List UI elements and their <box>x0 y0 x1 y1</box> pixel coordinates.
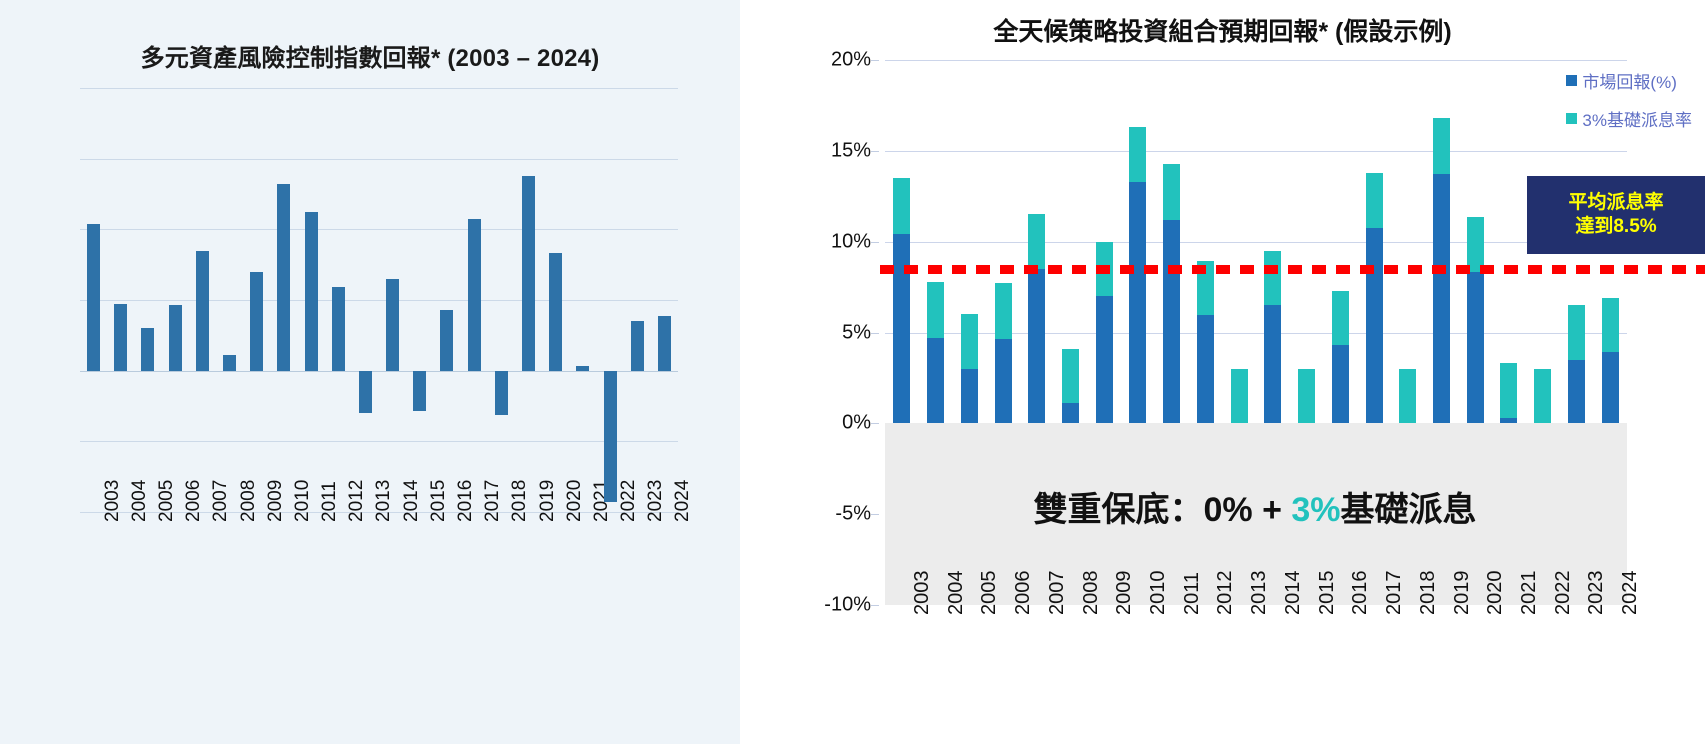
right-bar-segment-dividend-2010 <box>1129 127 1146 182</box>
right-bar-segment-dividend-2013 <box>1231 369 1248 424</box>
right-bar-segment-dividend-2016 <box>1332 291 1349 346</box>
right-bar-segment-dividend-2005 <box>961 314 978 369</box>
left-chart-title: 多元資產風險控制指數回報* (2003 – 2024) <box>0 38 740 73</box>
left-x-axis-label-2015: 2015 <box>428 480 450 522</box>
right-y-axis-label-15: 15% <box>801 139 871 162</box>
legend-label-market-return: 市場回報(%) <box>1582 68 1676 93</box>
right-bar-segment-dividend-2015 <box>1298 369 1315 424</box>
slide-canvas: 多元資產風險控制指數回報* (2003 – 2024) 20%15%10%5%0… <box>0 0 1705 744</box>
right-bar-segment-dividend-2004 <box>927 282 944 338</box>
right-bar-segment-market-2017 <box>1366 228 1383 423</box>
left-bar-2016[interactable] <box>440 310 453 371</box>
right-bar-segment-market-2003 <box>893 234 910 423</box>
left-bar-2021[interactable] <box>576 366 589 370</box>
left-x-axis-label-2022: 2022 <box>618 480 640 522</box>
right-bar-2024[interactable] <box>1602 60 1619 605</box>
left-bar-2010[interactable] <box>277 184 290 371</box>
floor-note-prefix: 雙重保底：0% + <box>1033 491 1291 529</box>
left-x-axis-label-2012: 2012 <box>346 480 368 522</box>
left-bar-2024[interactable] <box>658 316 671 371</box>
left-x-axis-label-2009: 2009 <box>265 480 287 522</box>
left-gridline-5 <box>80 300 678 301</box>
threshold-line-8-5 <box>880 265 1705 274</box>
right-bar-segment-dividend-2021 <box>1500 363 1517 418</box>
left-x-axis-label-2013: 2013 <box>373 480 395 522</box>
left-x-axis-label-2018: 2018 <box>509 480 531 522</box>
right-y-tick-20 <box>871 60 879 61</box>
right-y-axis-label--5: -5% <box>801 503 871 526</box>
left-bar-2007[interactable] <box>196 251 209 371</box>
left-bar-2014[interactable] <box>386 279 399 371</box>
left-plot-area: 20%15%10%5%0%-5%-10%20032004200520062007… <box>80 88 678 512</box>
right-bar-segment-market-2009 <box>1096 296 1113 423</box>
left-bar-2018[interactable] <box>495 371 508 416</box>
left-bar-2019[interactable] <box>522 176 535 370</box>
right-bar-segment-market-2004 <box>927 338 944 423</box>
left-bar-2005[interactable] <box>141 328 154 370</box>
right-y-axis-label-5: 5% <box>801 321 871 344</box>
left-bar-2006[interactable] <box>169 305 182 371</box>
callout-line-2: 達到8.5% <box>1575 215 1656 239</box>
right-bar-segment-dividend-2007 <box>1028 214 1045 269</box>
right-chart-legend: 市場回報(%) 3%基礎派息率 <box>1566 68 1692 131</box>
left-x-axis-label-2010: 2010 <box>292 480 314 522</box>
legend-swatch-base-dividend <box>1566 113 1577 124</box>
right-bar-segment-market-2006 <box>995 339 1012 423</box>
left-x-axis-label-2006: 2006 <box>183 480 205 522</box>
right-y-tick--5 <box>871 514 879 515</box>
right-y-axis-label-0: 0% <box>801 412 871 435</box>
left-x-axis-label-2003: 2003 <box>102 480 124 522</box>
right-y-tick-0 <box>871 423 879 424</box>
left-gridline--5 <box>80 441 678 442</box>
right-y-tick--10 <box>871 605 879 606</box>
left-x-axis-label-2005: 2005 <box>156 480 178 522</box>
right-bar-segment-dividend-2020 <box>1467 217 1484 272</box>
left-x-axis-label-2017: 2017 <box>482 480 504 522</box>
right-bar-segment-market-2010 <box>1129 182 1146 424</box>
left-x-axis-label-2024: 2024 <box>672 480 694 522</box>
right-bar-segment-market-2019 <box>1433 174 1450 424</box>
double-floor-note: 雙重保底：0% + 3%基礎派息 <box>915 482 1595 531</box>
left-x-axis-label-2004: 2004 <box>129 480 151 522</box>
right-bar-segment-market-2024 <box>1602 352 1619 423</box>
left-bar-2012[interactable] <box>332 287 345 371</box>
right-bar-segment-dividend-2008 <box>1062 349 1079 404</box>
legend-swatch-market-return <box>1566 75 1577 86</box>
right-bar-segment-dividend-2003 <box>893 178 910 234</box>
legend-item-market-return: 市場回報(%) <box>1566 68 1676 93</box>
right-bar-segment-dividend-2019 <box>1433 118 1450 173</box>
right-y-axis-label-20: 20% <box>801 49 871 72</box>
right-y-tick-15 <box>871 151 879 152</box>
callout-line-1: 平均派息率 <box>1568 191 1663 215</box>
left-x-axis-label-2008: 2008 <box>238 480 260 522</box>
left-bar-2013[interactable] <box>359 371 372 413</box>
right-y-axis-label--10: -10% <box>801 594 871 617</box>
right-y-tick-10 <box>871 242 879 243</box>
left-bar-2009[interactable] <box>250 272 263 371</box>
left-x-axis-label-2019: 2019 <box>537 480 559 522</box>
left-gridline-20 <box>80 88 678 89</box>
right-bar-segment-market-2014 <box>1264 305 1281 423</box>
right-bar-segment-market-2021 <box>1500 418 1517 423</box>
left-gridline-10 <box>80 229 678 230</box>
left-x-axis-label-2014: 2014 <box>401 480 423 522</box>
right-bar-segment-dividend-2024 <box>1602 298 1619 353</box>
right-bar-segment-market-2016 <box>1332 345 1349 423</box>
left-gridline-0 <box>80 371 678 372</box>
right-bar-segment-dividend-2018 <box>1399 369 1416 424</box>
left-bar-2003[interactable] <box>87 224 100 371</box>
left-x-axis-label-2007: 2007 <box>210 480 232 522</box>
right-bar-segment-dividend-2017 <box>1366 173 1383 228</box>
left-x-axis-label-2016: 2016 <box>455 480 477 522</box>
right-chart-panel: 全天候策略投資組合預期回報* (假設示例) 20%15%10%5%0%-5%-1… <box>740 0 1705 744</box>
left-x-axis-label-2020: 2020 <box>564 480 586 522</box>
left-chart-panel: 多元資產風險控制指數回報* (2003 – 2024) 20%15%10%5%0… <box>0 0 740 744</box>
right-bar-segment-market-2005 <box>961 369 978 424</box>
right-bar-segment-market-2023 <box>1568 360 1585 424</box>
right-bar-segment-market-2007 <box>1028 269 1045 423</box>
legend-item-base-dividend: 3%基礎派息率 <box>1566 106 1692 131</box>
legend-label-base-dividend: 3%基礎派息率 <box>1582 106 1692 131</box>
floor-note-suffix: 基礎派息 <box>1341 491 1477 529</box>
right-bar-segment-market-2008 <box>1062 403 1079 423</box>
left-gridline-15 <box>80 159 678 160</box>
right-bar-segment-dividend-2014 <box>1264 251 1281 306</box>
left-bar-2011[interactable] <box>305 212 318 370</box>
right-x-axis-label-2024: 2024 <box>1619 571 1642 616</box>
left-bar-2004[interactable] <box>114 304 127 370</box>
right-bar-segment-dividend-2011 <box>1163 164 1180 219</box>
left-x-axis-label-2023: 2023 <box>645 480 667 522</box>
floor-note-highlight: 3% <box>1291 491 1340 529</box>
right-bar-2003[interactable] <box>893 60 910 605</box>
right-bar-segment-dividend-2006 <box>995 283 1012 339</box>
right-bar-segment-market-2020 <box>1467 272 1484 424</box>
average-dividend-callout: 平均派息率 達到8.5% <box>1527 176 1705 254</box>
left-bar-2008[interactable] <box>223 355 236 371</box>
right-y-axis-label-10: 10% <box>801 230 871 253</box>
left-bar-2015[interactable] <box>413 371 426 411</box>
right-chart-title: 全天候策略投資組合預期回報* (假設示例) <box>740 12 1705 48</box>
right-bar-segment-market-2012 <box>1197 315 1214 423</box>
right-bar-segment-market-2011 <box>1163 220 1180 423</box>
right-bar-segment-dividend-2023 <box>1568 305 1585 360</box>
left-bar-2020[interactable] <box>549 253 562 371</box>
left-bar-2017[interactable] <box>468 219 481 371</box>
left-x-axis-label-2011: 2011 <box>319 481 341 522</box>
right-bar-segment-dividend-2022 <box>1534 369 1551 424</box>
left-bar-2023[interactable] <box>631 321 644 370</box>
right-y-tick-5 <box>871 333 879 334</box>
left-bar-2022[interactable] <box>604 371 617 502</box>
